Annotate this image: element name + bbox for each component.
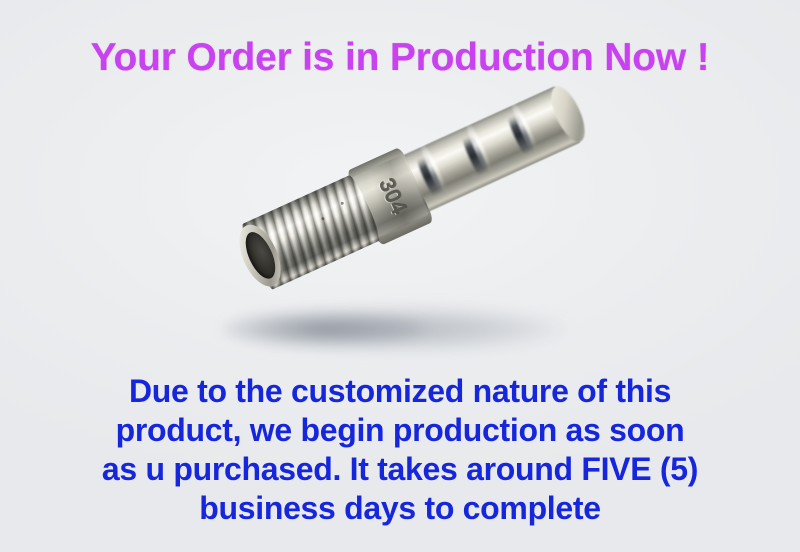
hose-barb-fitting-illustration: 304 bbox=[219, 71, 596, 309]
body-line-2: product, we begin production as soon bbox=[0, 411, 800, 450]
body-line-1: Due to the customized nature of this bbox=[0, 372, 800, 411]
product-shadow-near bbox=[223, 312, 423, 346]
production-notice-card: Your Order is in Production Now ! 304 bbox=[0, 0, 800, 552]
production-lead-time-message: Due to the customized nature of this pro… bbox=[0, 372, 800, 528]
product-photo: 304 bbox=[195, 130, 625, 380]
body-line-3: as u purchased. It takes around FIVE (5) bbox=[0, 450, 800, 489]
body-line-4: business days to complete bbox=[0, 489, 800, 528]
page-title: Your Order is in Production Now ! bbox=[0, 36, 800, 80]
